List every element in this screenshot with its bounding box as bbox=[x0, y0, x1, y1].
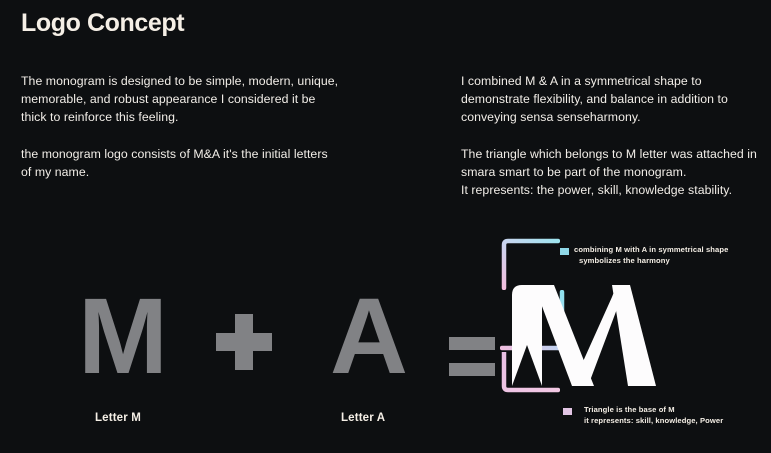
text-line: The monogram is designed to be simple, m… bbox=[21, 72, 356, 90]
annotation-harmony: combining M with A in symmetrical shape … bbox=[560, 245, 728, 266]
text-line: the monogram logo consists of M&A it's t… bbox=[21, 145, 356, 163]
paragraph: The triangle which belongs to M letter w… bbox=[461, 145, 771, 200]
text-line: I combined M & A in a symmetrical shape … bbox=[461, 72, 771, 90]
text-line: demonstrate flexibility, and balance in … bbox=[461, 90, 771, 108]
text-line: memorable, and robust appearance I consi… bbox=[21, 90, 356, 108]
text-line: of my name. bbox=[21, 163, 356, 181]
text-line: smara smart to be part of the monogram. bbox=[461, 163, 771, 181]
logo-concept-slide: Logo Concept The monogram is designed to… bbox=[0, 0, 771, 453]
paragraph: I combined M & A in a symmetrical shape … bbox=[461, 72, 771, 127]
annotation-text: Triangle is the base of M it represents:… bbox=[577, 405, 723, 426]
text-line: thick to reinforce this feeling. bbox=[21, 108, 356, 126]
page-title: Logo Concept bbox=[21, 9, 184, 38]
text-line: it represents: skill, knowledge, Power bbox=[584, 416, 723, 427]
monogram-logo-mark bbox=[508, 283, 658, 388]
caption-letter-a: Letter A bbox=[341, 412, 385, 424]
logo-lockup bbox=[500, 238, 715, 428]
annotation-marker-pink bbox=[563, 408, 572, 415]
letter-a-glyph: A bbox=[330, 282, 406, 390]
annotation-text: combining M with A in symmetrical shape … bbox=[574, 245, 728, 266]
caption-letter-m: Letter M bbox=[95, 412, 141, 424]
text-line: symbolizes the harmony bbox=[574, 256, 728, 267]
annotation-marker-cyan bbox=[560, 248, 569, 255]
text-line: The triangle which belongs to M letter w… bbox=[461, 145, 771, 163]
paragraph: The monogram is designed to be simple, m… bbox=[21, 72, 356, 127]
paragraph: the monogram logo consists of M&A it's t… bbox=[21, 145, 356, 181]
plus-icon bbox=[216, 314, 272, 370]
annotation-triangle: Triangle is the base of M it represents:… bbox=[563, 405, 723, 426]
description-left: The monogram is designed to be simple, m… bbox=[21, 72, 356, 181]
description-right: I combined M & A in a symmetrical shape … bbox=[461, 72, 771, 199]
equals-icon bbox=[449, 320, 495, 366]
text-line: Triangle is the base of M bbox=[584, 405, 723, 416]
letter-m-glyph: M bbox=[78, 282, 166, 390]
text-line: combining M with A in symmetrical shape bbox=[574, 245, 728, 256]
text-line: conveying sensa senseharmony. bbox=[461, 108, 771, 126]
text-line: It represents: the power, skill, knowled… bbox=[461, 181, 771, 199]
